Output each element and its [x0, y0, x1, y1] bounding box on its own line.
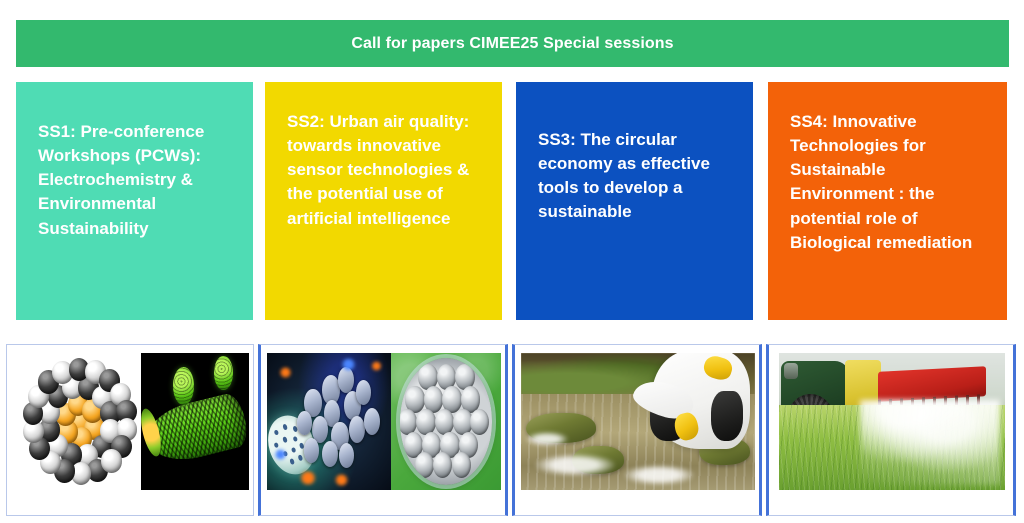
session-card-ss4-title: SS4: Innovative Technologies for Sustain… — [790, 110, 985, 255]
photo-frame-ss2 — [258, 344, 508, 516]
nanoparticle-ellipsoid — [322, 441, 338, 467]
light-flare — [334, 474, 349, 486]
water-sampling-graphic — [521, 353, 755, 490]
photo-ss2-content — [267, 353, 501, 490]
tractor-cabin — [784, 363, 798, 379]
nanoparticle-ellipsoid — [297, 411, 312, 436]
session-card-ss4[interactable]: SS4: Innovative Technologies for Sustain… — [768, 82, 1007, 320]
disc-pore — [298, 454, 303, 460]
water-sampling-hazmat-image — [521, 353, 755, 490]
photo-ss1-content — [19, 353, 249, 490]
light-flare — [299, 471, 316, 485]
silver-nanosphere — [433, 452, 452, 478]
light-flare — [279, 367, 291, 378]
call-for-papers-banner: Call for papers CIMEE25 Special sessions — [16, 20, 1009, 67]
water-foam-3 — [526, 432, 568, 446]
carbon-nanotube-image — [141, 353, 249, 490]
disc-pore — [293, 436, 298, 442]
nanoparticle-ellipsoid — [364, 408, 380, 435]
nanoparticle-ellipsoid — [356, 380, 371, 405]
nanoparticle-ellipsoid — [349, 416, 365, 443]
photo-frame-ss3 — [512, 344, 762, 516]
session-card-ss2-title: SS2: Urban air quality: towards innovati… — [287, 110, 480, 231]
session-card-ss1[interactable]: SS1: Pre-conference Workshops (PCWs): El… — [16, 82, 253, 320]
silver-sphere-cluster — [400, 358, 492, 484]
carbon-nanotube-graphic — [141, 353, 249, 490]
photo-ss4-content — [779, 353, 1005, 490]
molecular-sphere-model-image — [19, 353, 141, 490]
silver-nanosphere — [470, 409, 489, 435]
dark-nanoparticle-render-image — [267, 353, 391, 490]
photo-ss3-content — [521, 353, 755, 490]
disc-pore — [290, 458, 295, 464]
session-images-row — [0, 344, 1024, 519]
atom-sphere — [101, 449, 122, 472]
nanoparticle-ellipsoid — [339, 443, 354, 468]
molecular-cluster-graphic — [19, 353, 141, 490]
disc-pore — [292, 446, 297, 452]
green-background-graphic — [391, 353, 501, 490]
session-card-ss2[interactable]: SS2: Urban air quality: towards innovati… — [265, 82, 502, 320]
photo-frame-ss1 — [6, 344, 254, 516]
pesticide-spray-mist — [860, 400, 1000, 485]
special-sessions-row: SS1: Pre-conference Workshops (PCWs): El… — [0, 82, 1024, 320]
nanoparticle-ellipsoid — [304, 438, 319, 463]
fullerene-ball-2 — [214, 356, 232, 390]
light-flare — [371, 361, 382, 371]
dark-nanoparticle-graphic — [267, 353, 391, 490]
fullerene-ball-1 — [173, 367, 194, 405]
banner-title: Call for papers CIMEE25 Special sessions — [351, 35, 673, 53]
water-foam-2 — [624, 465, 694, 484]
silver-nanosphere — [452, 452, 471, 478]
rubber-boot-right — [711, 391, 744, 440]
disc-pore — [283, 436, 288, 442]
session-card-ss1-title: SS1: Pre-conference Workshops (PCWs): El… — [38, 110, 231, 241]
tractor-pesticide-spraying-field-image — [779, 353, 1005, 490]
disc-pore — [274, 429, 279, 435]
silver-nanoparticle-cluster-image — [391, 353, 501, 490]
light-flare — [341, 358, 356, 370]
photo-frame-ss4 — [766, 344, 1016, 516]
session-card-ss3[interactable]: SS3: The circular economy as effective t… — [516, 82, 753, 320]
silver-nanosphere — [415, 452, 434, 478]
light-flare — [274, 449, 286, 460]
field-spraying-graphic — [779, 353, 1005, 490]
disc-pore — [283, 424, 288, 430]
disc-pore — [274, 442, 279, 448]
session-card-ss3-title: SS3: The circular economy as effective t… — [538, 110, 731, 225]
